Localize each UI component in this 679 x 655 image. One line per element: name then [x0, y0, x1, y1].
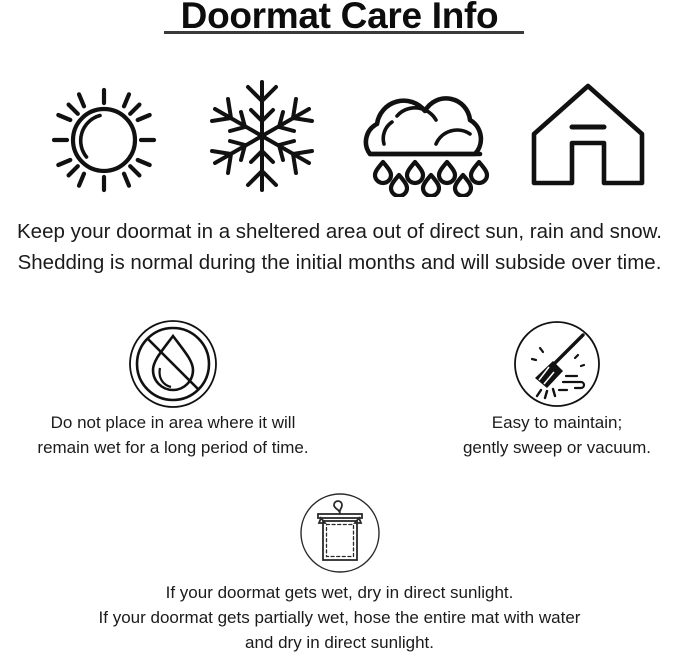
- care-caption-easy-maintain: Easy to maintain; gently sweep or vacuum…: [387, 410, 679, 460]
- intro-paragraph: Keep your doormat in a sheltered area ou…: [0, 216, 679, 278]
- care-caption-no-standing-water: Do not place in area where it will remai…: [3, 410, 343, 460]
- intro-line-2: Shedding is normal during the initial mo…: [0, 247, 679, 278]
- house-icon: [518, 72, 658, 197]
- bottom-caption-line-1: If your doormat gets wet, dry in direct …: [0, 580, 679, 605]
- title-underline-rule: [164, 31, 524, 34]
- care-items-row: Do not place in area where it will remai…: [0, 318, 679, 468]
- care-item-easy-maintain: Easy to maintain; gently sweep or vacuum…: [387, 318, 679, 460]
- care-item-no-standing-water: Do not place in area where it will remai…: [3, 318, 343, 460]
- broom-icon-wrapper: [387, 318, 679, 408]
- hang-dry-icon-wrapper: [0, 490, 679, 578]
- hang-dry-icon: [297, 490, 383, 576]
- care-caption-hang-dry: If your doormat gets wet, dry in direct …: [0, 580, 679, 655]
- no-water-icon: [127, 318, 219, 410]
- care-item-hang-dry: If your doormat gets wet, dry in direct …: [0, 490, 679, 655]
- bottom-caption-line-2: If your doormat gets partially wet, hose…: [0, 605, 679, 630]
- care-caption-line-2: remain wet for a long period of time.: [3, 435, 343, 460]
- care-caption-line-2: gently sweep or vacuum.: [387, 435, 679, 460]
- broom-icon: [511, 318, 603, 410]
- care-caption-line-1: Easy to maintain;: [387, 410, 679, 435]
- weather-icon-row: [0, 72, 679, 197]
- doormat-care-info-page: Doormat Care Info: [0, 0, 679, 655]
- intro-line-1: Keep your doormat in a sheltered area ou…: [0, 216, 679, 247]
- snowflake-icon: [198, 72, 326, 197]
- sun-icon: [38, 72, 170, 197]
- rain-cloud-icon: [352, 72, 500, 197]
- no-water-icon-wrapper: [3, 318, 343, 408]
- page-header: Doormat Care Info: [0, 0, 679, 38]
- care-caption-line-1: Do not place in area where it will: [3, 410, 343, 435]
- bottom-caption-line-3: and dry in direct sunlight.: [0, 630, 679, 655]
